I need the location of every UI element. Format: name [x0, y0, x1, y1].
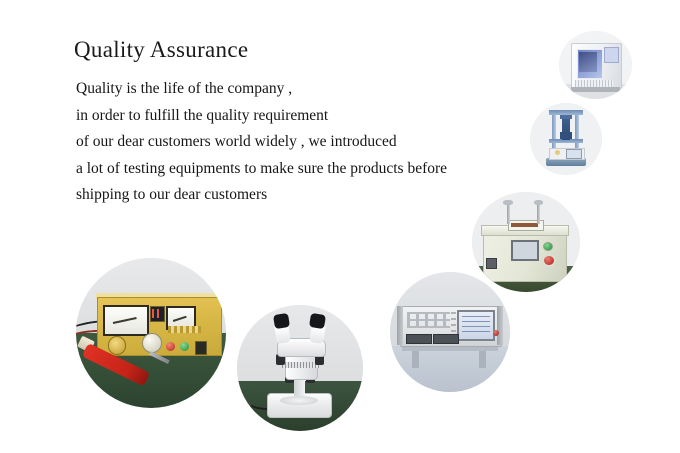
photo-lcr-analyzer [390, 272, 510, 392]
lower-grip [560, 132, 573, 139]
stage-plate [280, 396, 318, 405]
zoom-ring [282, 362, 319, 368]
microscope-scene [237, 305, 363, 431]
keypad [407, 312, 450, 329]
red-emergency-stop-button [542, 254, 556, 267]
large-analog-meter [103, 305, 149, 336]
hipot-scene [76, 258, 226, 408]
analyzer-scene [390, 272, 510, 392]
bench-surface [390, 346, 510, 392]
chamber-window [579, 52, 597, 72]
chamber-vent [575, 80, 613, 87]
test-sample [511, 223, 538, 227]
monitor-screen [566, 149, 582, 159]
switch-row [168, 326, 201, 334]
quality-assurance-slide: Quality Assurance Quality is the life of… [0, 0, 680, 453]
range-dial [108, 336, 127, 355]
photo-environmental-test-chamber [559, 31, 632, 99]
power-button [493, 330, 499, 336]
body-line: in order to fulfill the quality requirem… [76, 103, 516, 130]
power-switch [486, 258, 497, 269]
left-bench-leg [412, 351, 419, 368]
left-eyecup [273, 313, 290, 329]
body-paragraph: Quality is the life of the company , in … [76, 76, 516, 209]
voltage-adjust-knob [142, 333, 162, 353]
page-title: Quality Assurance [74, 36, 248, 64]
red-indicator-lamp [166, 342, 175, 351]
left-rack-handle [397, 306, 403, 346]
right-rub-arm [537, 202, 540, 224]
left-weight-head [503, 200, 513, 205]
touch-panel-screen [511, 240, 539, 261]
chamber-base [571, 87, 621, 92]
right-rack-handle [497, 306, 503, 346]
body-line: of our dear customers world widely , we … [76, 129, 516, 156]
right-weight-head [534, 200, 544, 205]
upper-grip [560, 115, 572, 119]
photo-hipot-tester [76, 258, 226, 408]
right-bench-leg [479, 351, 486, 368]
left-rub-arm [507, 202, 510, 224]
lcd-display [457, 310, 495, 340]
body-line: Quality is the life of the company , [76, 76, 516, 103]
body-line: shipping to our dear customers [76, 182, 516, 209]
chamber-scene [559, 31, 632, 99]
green-indicator-lamp [180, 342, 189, 351]
body-line: a lot of testing equipments to make sure… [76, 156, 516, 183]
right-connector-slot [433, 334, 459, 343]
photo-tensile-testing-machine [530, 103, 602, 175]
tensile-scene [530, 103, 602, 175]
digital-display [150, 306, 166, 322]
left-connector-slot [406, 334, 432, 343]
photo-stereo-microscope [237, 305, 363, 431]
right-eyecup [309, 313, 326, 329]
output-terminal [195, 341, 208, 355]
chamber-control-panel [604, 47, 619, 63]
green-start-button [543, 242, 553, 251]
soft-key-column [451, 312, 456, 337]
